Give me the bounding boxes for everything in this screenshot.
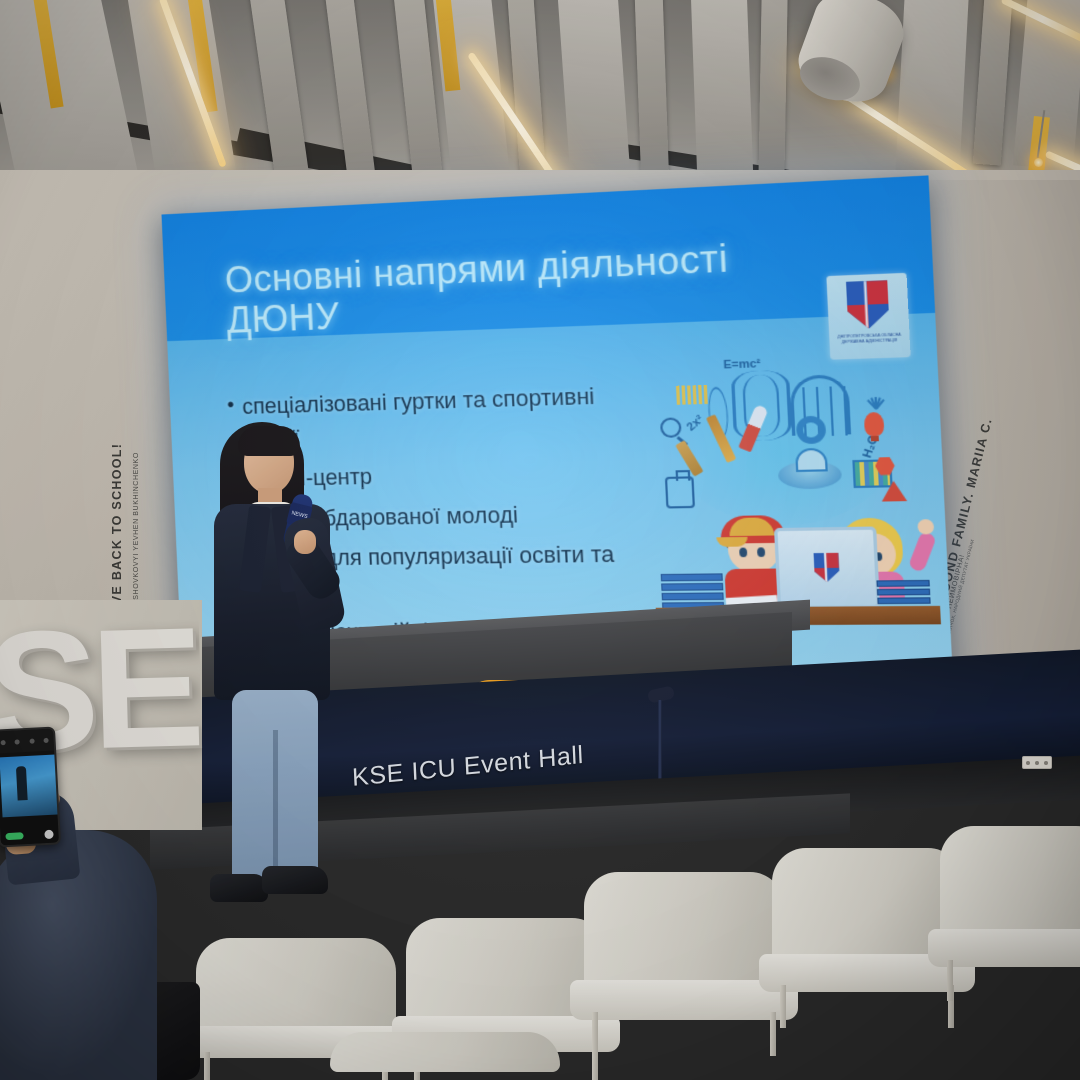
audience-chair[interactable] [330,1032,560,1080]
ufo-icon [777,460,842,489]
ventilation-duct [790,0,913,113]
bangs [238,426,300,456]
books-icon [660,573,724,609]
audience-chair[interactable] [584,872,784,1052]
hand [294,530,316,554]
formula-emc2: E=mc² [723,357,761,371]
stem-illustration: E=mc² 2x² H₂O [650,354,933,626]
shoe [210,874,268,902]
magnifier-icon [659,417,681,438]
record-button[interactable] [5,832,23,840]
robot-icon [664,476,694,508]
speaker-person: NEWS [196,418,356,930]
shield-icon [813,553,839,582]
camera-toolbar[interactable] [0,729,54,754]
conference-photo: GIVE BACK TO SCHOOL! VLADYSLAV SHOVKOVYI… [0,0,1080,1080]
logo-caption: ДНІПРОПЕТРОВСЬКА ОБЛАСНА ДЕРЖАВНА АДМІНІ… [834,333,905,345]
camera-viewfinder [0,754,59,819]
ruler-icon [676,384,708,404]
gear-icon [795,415,826,444]
triangle-icon [880,480,906,501]
illustration-monitor [774,526,880,609]
audience-chair[interactable] [940,826,1080,998]
power-outlet [1022,756,1052,769]
shoe [262,866,328,894]
smartphone[interactable] [0,726,61,847]
books-icon [876,579,930,605]
lightbulb-icon [863,411,884,435]
organization-logo: ДНІПРОПЕТРОВСЬКА ОБЛАСНА ДЕРЖАВНА АДМІНІ… [826,273,910,360]
left-banner-headline: GIVE BACK TO SCHOOL! [110,443,124,620]
spot-light [1034,158,1043,167]
shield-icon [846,280,890,329]
jeans [232,690,318,880]
